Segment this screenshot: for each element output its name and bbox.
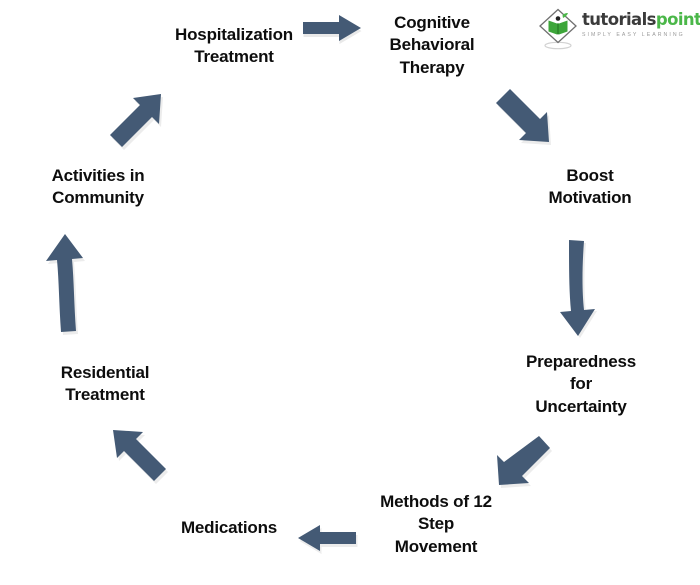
arrow-up-icon [45,232,101,344]
node-residential-treatment[interactable]: Residential Treatment [29,362,181,407]
tutorialspoint-logo[interactable]: tutorialspoint SIMPLY EASY LEARNING [536,4,696,54]
node-hospitalization-treatment[interactable]: Hospitalization Treatment [148,24,320,69]
arrow-up-left-icon [100,420,186,506]
logo-word-first: tutorials [582,10,656,29]
logo-tagline: SIMPLY EASY LEARNING [582,32,696,38]
arrow-left-icon [296,526,364,566]
logo-word-second: point [656,10,700,29]
tutorialspoint-wordmark: tutorialspoint SIMPLY EASY LEARNING [582,12,696,38]
arrow-up-right-icon [98,90,178,168]
arrow-down-icon [558,240,614,348]
node-medications[interactable]: Medications [163,517,295,539]
arrow-down-left-icon [482,432,562,504]
tutorialspoint-mark-icon [536,7,580,51]
arrow-right-icon [303,16,367,56]
arrow-down-right-icon [492,88,572,168]
node-boost-motivation[interactable]: Boost Motivation [510,165,670,210]
diagram-canvas: Hospitalization Treatment Cognitive Beha… [0,0,700,585]
node-cognitive-behavioral-therapy[interactable]: Cognitive Behavioral Therapy [363,12,501,79]
node-preparedness-for-uncertainty[interactable]: Preparedness for Uncertainty [492,351,670,418]
node-activities-in-community[interactable]: Activities in Community [21,165,175,210]
